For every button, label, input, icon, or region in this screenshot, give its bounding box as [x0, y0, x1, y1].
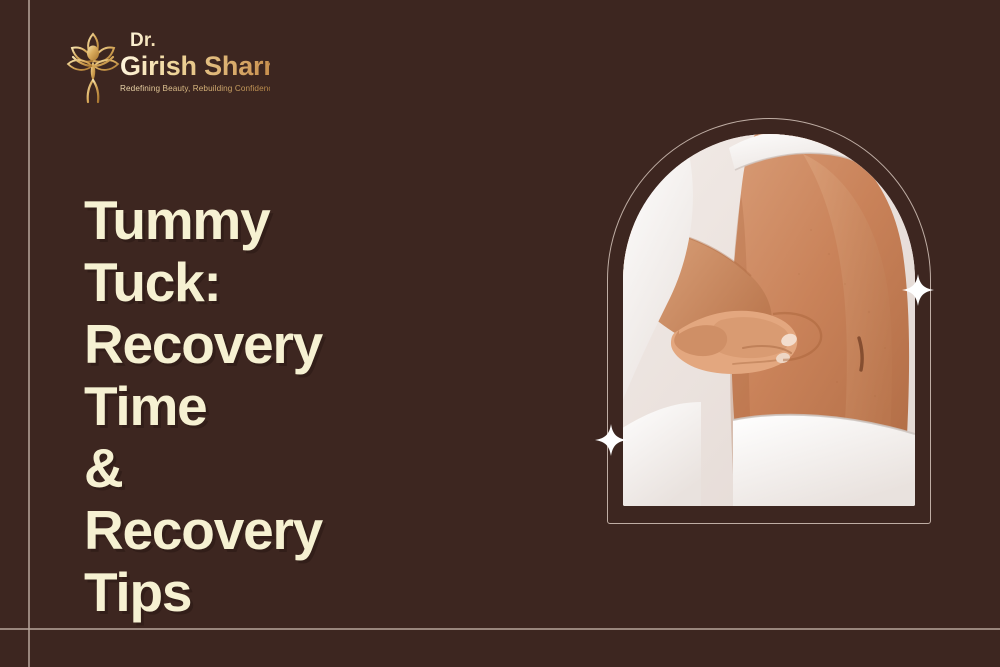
- brand-tagline: Redefining Beauty, Rebuilding Confidence: [120, 84, 270, 94]
- sparkle-icon: [901, 273, 935, 307]
- arch-media-block: [597, 110, 942, 525]
- title-line: Tuck:: [84, 251, 221, 313]
- title-line: Recovery: [84, 499, 322, 561]
- brand-logo-text: Dr. Girish Sharma Redefining Beauty, Reb…: [120, 30, 270, 94]
- title-line: Time: [84, 375, 207, 437]
- hero-photo: [623, 134, 915, 506]
- title-line: Recovery: [84, 313, 322, 375]
- banner-canvas: Dr. Girish Sharma Redefining Beauty, Reb…: [0, 0, 1000, 667]
- title-line: &: [84, 437, 123, 499]
- brand-prefix: Dr.: [130, 30, 270, 51]
- vertical-rule: [28, 0, 30, 667]
- title-line: Tips: [84, 561, 191, 623]
- horizontal-rule: [0, 628, 1000, 630]
- brand-logo[interactable]: Dr. Girish Sharma Redefining Beauty, Reb…: [62, 24, 262, 106]
- sparkle-icon: [594, 423, 628, 457]
- title-line: Tummy: [84, 189, 270, 251]
- page-title: Tummy Tuck: Recovery Time & Recovery Tip…: [84, 189, 414, 623]
- brand-name: Girish Sharma: [120, 51, 270, 81]
- lotus-figure-icon: [62, 26, 124, 104]
